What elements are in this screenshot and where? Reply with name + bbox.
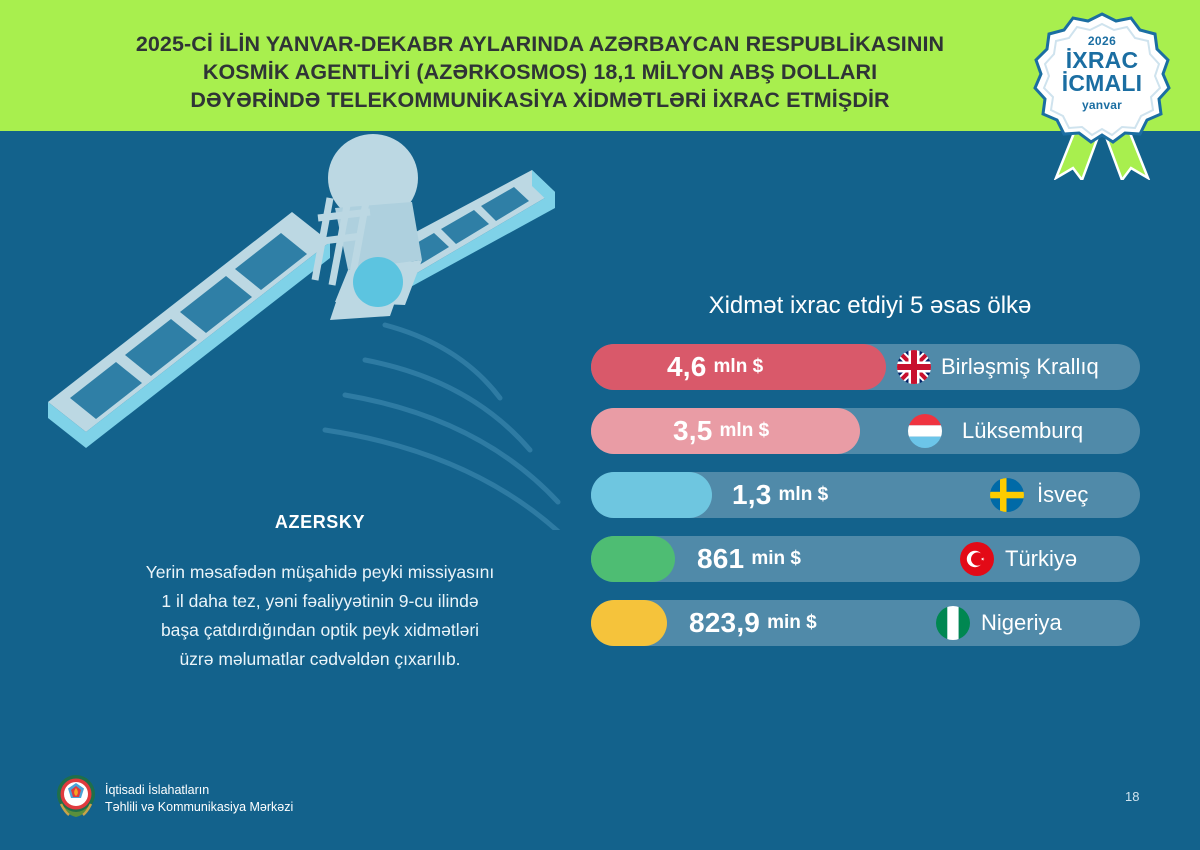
page-title-line-1: 2025-Cİ İLİN YANVAR-DEKABR AYLARINDA AZƏ…: [40, 30, 1040, 58]
bar-value-uk: 4,6 mln $: [667, 344, 763, 390]
flag-uk-icon: [897, 350, 931, 384]
bar-value-number: 4,6: [667, 351, 707, 383]
chart-title: Xidmət ixrac etdiyi 5 əsas ölkə: [590, 292, 1150, 320]
flag-turkey-icon: [960, 542, 994, 576]
page-title: 2025-Cİ İLİN YANVAR-DEKABR AYLARINDA AZƏ…: [40, 30, 1040, 114]
bar-value-unit: min $: [751, 548, 801, 570]
bar-country-nigeria: Nigeriya: [981, 600, 1062, 646]
bar-value-number: 1,3: [732, 479, 772, 511]
bar-value-number: 861: [697, 543, 744, 575]
bar-row: 4,6 mln $ Birləşmiş Krallıq: [591, 344, 1140, 390]
bar-country-lux: Lüksemburq: [962, 408, 1083, 454]
bar-fill-sweden: [591, 472, 712, 518]
bar-row: 823,9 min $ Nigeriya: [591, 600, 1140, 646]
bar-value-unit: min $: [767, 612, 817, 634]
bar-fill-nigeria: [591, 600, 667, 646]
page-number: 18: [1125, 789, 1139, 804]
bar-row: 3,5 mln $ Lüksemburq: [591, 408, 1140, 454]
bar-fill-turkey: [591, 536, 675, 582]
bar-value-unit: mln $: [779, 484, 829, 506]
footer-organization: İqtisadi İslahatların Təhlili və Kommuni…: [105, 782, 293, 816]
bar-value-turkey: 861 min $: [697, 536, 801, 582]
badge-scallop-outer: [1035, 14, 1169, 142]
description-line-4: üzrə məlumatlar cədvəldən çıxarılıb.: [60, 645, 580, 674]
bar-value-sweden: 1,3 mln $: [732, 472, 828, 518]
bar-value-nigeria: 823,9 min $: [689, 600, 817, 646]
description-line-1: Yerin məsafədən müşahidə peyki missiyası…: [60, 558, 580, 587]
footer-org-line-1: İqtisadi İslahatların: [105, 782, 293, 799]
bar-row: 861 min $ Türkiyə: [591, 536, 1140, 582]
solar-panel-left: [48, 212, 330, 448]
footer-org-line-2: Təhlili və Kommunikasiya Mərkəzi: [105, 799, 293, 816]
satellite-name-label: AZERSKY: [60, 512, 580, 533]
description-line-2: 1 il daha tez, yəni fəaliyyətinin 9-cu i…: [60, 587, 580, 616]
bar-value-unit: mln $: [714, 356, 764, 378]
bar-country-uk: Birləşmiş Krallıq: [941, 344, 1099, 390]
signal-waves-icon: [325, 325, 582, 530]
bar-value-unit: mln $: [720, 420, 770, 442]
azerbaijan-emblem-icon: [55, 774, 97, 820]
bar-value-number: 3,5: [673, 415, 713, 447]
flag-luxembourg-icon: [908, 414, 942, 448]
page-title-line-3: DƏYƏRİNDƏ TELEKOMMUNİKASİYA XİDMƏTLƏRİ İ…: [40, 86, 1040, 114]
export-review-badge: 2026 İXRAC İCMALI yanvar: [1016, 8, 1188, 180]
satellite-dish-icon: [353, 257, 403, 307]
bar-country-turkey: Türkiyə: [1005, 536, 1077, 582]
country-bar-chart: 4,6 mln $ Birləşmiş Krallıq 3,5 mln $: [591, 344, 1140, 664]
satellite-description: Yerin məsafədən müşahidə peyki missiyası…: [60, 558, 580, 674]
flag-nigeria-icon: [936, 606, 970, 640]
bar-value-lux: 3,5 mln $: [673, 408, 769, 454]
flag-sweden-icon: [990, 478, 1024, 512]
badge-rosette-icon: [1016, 8, 1188, 180]
bar-value-number: 823,9: [689, 607, 760, 639]
bar-row: 1,3 mln $ İsveç: [591, 472, 1140, 518]
description-line-3: başa çatdırdığından optik peyk xidmətlər…: [60, 616, 580, 645]
page-title-line-2: KOSMİK AGENTLİYİ (AZƏRKOSMOS) 18,1 MİLYO…: [40, 58, 1040, 86]
satellite-illustration: [30, 130, 590, 530]
satellite-body: [315, 134, 422, 320]
bar-country-sweden: İsveç: [1037, 472, 1088, 518]
